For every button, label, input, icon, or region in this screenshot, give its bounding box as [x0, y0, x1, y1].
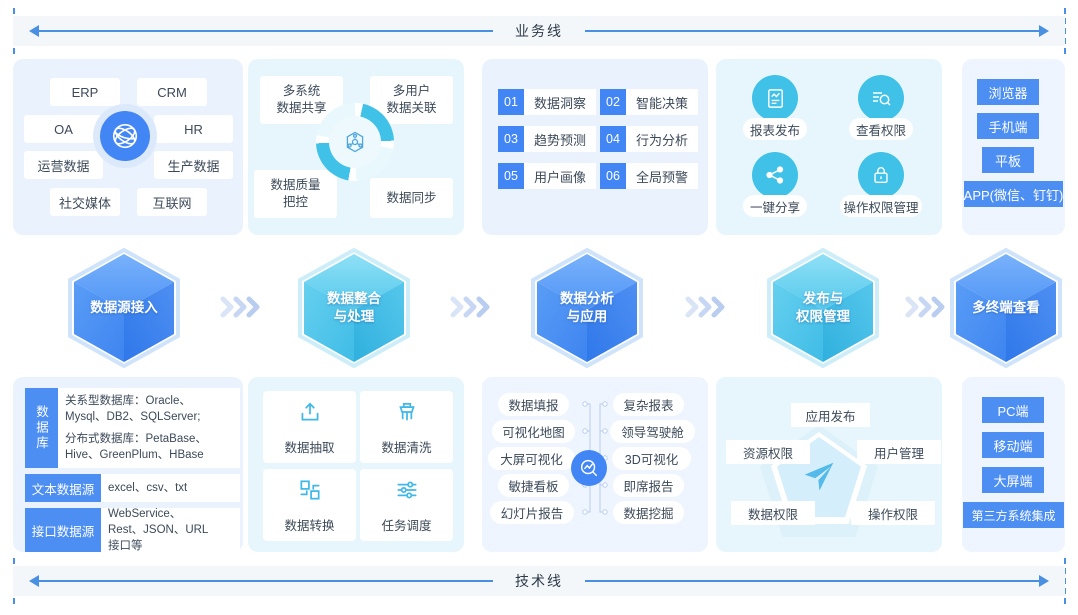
- upload-icon: [297, 399, 323, 430]
- stage-label-line: 多终端查看: [972, 300, 1040, 315]
- stage-label-line: 与应用: [560, 308, 614, 326]
- arrow-right-icon: [1039, 25, 1049, 37]
- label-report-publish[interactable]: 报表发布: [743, 118, 807, 140]
- chip-data-sync[interactable]: 数据同步: [370, 178, 453, 218]
- mindmap-item-big-screen[interactable]: 大屏可视化: [488, 447, 575, 470]
- clean-brush-icon: [394, 399, 420, 430]
- pchip-operation-perm[interactable]: 操作权限: [851, 501, 935, 525]
- analysis-item[interactable]: 01 数据洞察: [498, 89, 596, 115]
- analysis-item-label: 数据洞察: [524, 89, 596, 115]
- panel-data-sources-bottom: 数据库 关系型数据库：Oracle、 Mysql、DB2、SQLServer; …: [13, 377, 243, 552]
- analysis-item-label: 全局预警: [626, 163, 698, 189]
- db-value-line: Mysql、DB2、SQLServer;: [65, 409, 233, 425]
- btn-mobile[interactable]: 手机端: [977, 113, 1039, 139]
- card-label: 数据抽取: [284, 437, 334, 456]
- analytics-search-icon: [571, 450, 607, 486]
- db-value-line: 关系型数据库：Oracle、: [65, 393, 233, 409]
- btn-browser[interactable]: 浏览器: [977, 79, 1039, 105]
- db-value-text-source: excel、csv、txt: [101, 474, 240, 502]
- infographic-canvas: 业务线 ERP CRM OA HR 运营数据 生产数据 社交媒体 互联网 多系统…: [0, 0, 1078, 615]
- chevron-right-icon-4: [900, 292, 952, 322]
- business-line-label: 业务线: [493, 21, 585, 41]
- btn-bigscreen[interactable]: 大屏端: [982, 467, 1044, 493]
- chip-line: 数据质量: [270, 177, 320, 194]
- panel-terminals-bottom: PC端 移动端 大屏端 第三方系统集成: [962, 377, 1065, 552]
- card-label: 数据清洗: [381, 437, 431, 456]
- analysis-item[interactable]: 02 智能决策: [600, 89, 698, 115]
- db-value-line: excel、csv、txt: [108, 480, 233, 496]
- db-value-database: 关系型数据库：Oracle、 Mysql、DB2、SQLServer; 分布式数…: [58, 388, 240, 468]
- stage-hex-2[interactable]: 数据整合 与处理: [296, 248, 412, 368]
- mindmap-item-visual-map[interactable]: 可视化地图: [492, 420, 575, 443]
- analysis-item-num: 04: [600, 126, 626, 152]
- db-key-text-source: 文本数据源: [25, 474, 101, 502]
- stage-hex-5[interactable]: 多终端查看: [948, 248, 1064, 368]
- chip-oa[interactable]: OA: [24, 115, 103, 143]
- card-label: 任务调度: [381, 515, 431, 534]
- btn-mobile-end[interactable]: 移动端: [982, 432, 1044, 458]
- pchip-app-publish[interactable]: 应用发布: [791, 403, 870, 427]
- stage-label-line: 权限管理: [796, 308, 850, 326]
- analysis-item-label: 行为分析: [626, 126, 698, 152]
- arrow-right-icon: [1039, 575, 1049, 587]
- analysis-item-label: 用户画像: [524, 163, 596, 189]
- mindmap-item-exec-dashboard[interactable]: 领导驾驶舱: [610, 420, 695, 443]
- chip-production-data[interactable]: 生产数据: [154, 151, 233, 179]
- chip-line: 多系统: [283, 83, 321, 100]
- stage-hex-4-label: 发布与 权限管理: [765, 248, 881, 368]
- business-line-axis: 业务线: [13, 16, 1065, 46]
- stage-label-line: 发布与: [796, 290, 850, 308]
- db-value-api-source: WebService、 Rest、JSON、URL 接口等: [101, 508, 240, 552]
- mindmap-item-3d-visual[interactable]: 3D可视化: [612, 447, 691, 470]
- report-chart-icon[interactable]: [752, 75, 798, 121]
- pchip-data-perm[interactable]: 数据权限: [731, 501, 815, 525]
- btn-third-party[interactable]: 第三方系统集成: [963, 502, 1064, 528]
- stage-hex-1[interactable]: 数据源接入: [66, 248, 182, 368]
- btn-pc[interactable]: PC端: [982, 397, 1044, 423]
- chip-line: 把控: [283, 194, 308, 211]
- card-data-transform[interactable]: 数据转换: [263, 469, 356, 541]
- chevron-right-icon-2: [445, 292, 497, 322]
- stage-label-line: 数据源接入: [90, 300, 158, 315]
- db-value-line: 分布式数据库：PetaBase、: [65, 431, 233, 447]
- share-icon[interactable]: [752, 152, 798, 198]
- chip-crm[interactable]: CRM: [137, 78, 207, 106]
- mindmap-item-adhoc-report[interactable]: 即席报告: [613, 474, 684, 497]
- btn-tablet[interactable]: 平板: [982, 147, 1034, 173]
- technology-line-label: 技术线: [493, 571, 585, 591]
- label-view-permission[interactable]: 查看权限: [849, 118, 913, 140]
- analysis-item-num: 05: [498, 163, 524, 189]
- pchip-user-mgmt[interactable]: 用户管理: [857, 440, 941, 464]
- panel-etl-bottom: 数据抽取 数据清洗 数据转换: [248, 377, 464, 552]
- card-task-schedule[interactable]: 任务调度: [360, 469, 453, 541]
- mindmap-item-data-entry[interactable]: 数据填报: [498, 393, 569, 416]
- chip-operation-data[interactable]: 运营数据: [24, 151, 103, 179]
- db-value-line: Rest、JSON、URL: [108, 522, 233, 538]
- analysis-item-num: 03: [498, 126, 524, 152]
- db-value-line: Hive、GreenPlum、HBase: [65, 447, 233, 463]
- mindmap-item-agile-dashboard[interactable]: 敏捷看板: [498, 474, 569, 497]
- db-key-api-source: 接口数据源: [25, 508, 101, 552]
- panel-publish-permission-top: 报表发布 查看权限 一键分享 操作权限管理: [716, 59, 942, 235]
- stage-label-line: 数据分析: [560, 290, 614, 308]
- chip-social-media[interactable]: 社交媒体: [50, 188, 120, 216]
- db-row-text-source[interactable]: 文本数据源 excel、csv、txt: [25, 474, 240, 502]
- integration-donut: [316, 103, 394, 181]
- db-row-api-source[interactable]: 接口数据源 WebService、 Rest、JSON、URL 接口等: [25, 508, 240, 552]
- card-data-extract[interactable]: 数据抽取: [263, 391, 356, 463]
- panel-data-analysis-top: 01 数据洞察 02 智能决策 03 趋势预测 04 行为分析 05 用户画像 …: [482, 59, 708, 235]
- panel-terminals-top: 浏览器 手机端 平板 APP(微信、钉钉): [962, 59, 1065, 235]
- card-data-clean[interactable]: 数据清洗: [360, 391, 453, 463]
- chip-erp[interactable]: ERP: [50, 78, 120, 106]
- chip-hr[interactable]: HR: [154, 115, 233, 143]
- mindmap-item-data-mining[interactable]: 数据挖掘: [613, 501, 684, 524]
- db-key-database: 数据库: [25, 388, 58, 468]
- analysis-item[interactable]: 03 趋势预测: [498, 126, 596, 152]
- globe-network-icon: [100, 111, 150, 161]
- stage-hex-3-label: 数据分析 与应用: [529, 248, 645, 368]
- analysis-item[interactable]: 05 用户画像: [498, 163, 596, 189]
- stage-hex-4[interactable]: 发布与 权限管理: [765, 248, 881, 368]
- card-label: 数据转换: [284, 515, 334, 534]
- chevron-right-icon-1: [215, 292, 267, 322]
- stage-hex-1-label: 数据源接入: [66, 248, 182, 368]
- chip-line: 多用户: [393, 83, 431, 100]
- chevron-right-icon-3: [680, 292, 732, 322]
- arrow-left-icon: [29, 25, 39, 37]
- label-one-click-share[interactable]: 一键分享: [743, 195, 807, 217]
- stage-label-line: 与处理: [327, 308, 381, 326]
- mindmap-item-complex-report[interactable]: 复杂报表: [613, 393, 684, 416]
- db-value-line: 接口等: [108, 538, 233, 554]
- lock-icon[interactable]: [858, 152, 904, 198]
- analysis-item-label: 趋势预测: [524, 126, 596, 152]
- label-operation-permission[interactable]: 操作权限管理: [840, 195, 922, 217]
- chip-internet[interactable]: 互联网: [137, 188, 207, 216]
- analysis-item-num: 02: [600, 89, 626, 115]
- hexagon-node-icon: [329, 116, 381, 168]
- technology-line-axis: 技术线: [13, 566, 1065, 596]
- analysis-item-num: 01: [498, 89, 524, 115]
- analysis-item[interactable]: 04 行为分析: [600, 126, 698, 152]
- analysis-item-num: 06: [600, 163, 626, 189]
- pchip-resource-perm[interactable]: 资源权限: [726, 440, 810, 464]
- analysis-item-label: 智能决策: [626, 89, 698, 115]
- stage-hex-2-label: 数据整合 与处理: [296, 248, 412, 368]
- stage-hex-3[interactable]: 数据分析 与应用: [529, 248, 645, 368]
- globe-network-icon-wrap: [93, 104, 157, 168]
- search-list-icon[interactable]: [858, 75, 904, 121]
- analysis-item[interactable]: 06 全局预警: [600, 163, 698, 189]
- db-value-line: WebService、: [108, 506, 233, 522]
- mindmap-item-slide-report[interactable]: 幻灯片报告: [490, 501, 574, 524]
- stage-hex-5-label: 多终端查看: [948, 248, 1064, 368]
- transform-icon: [297, 477, 323, 508]
- sliders-icon: [394, 477, 420, 508]
- db-row-database[interactable]: 数据库 关系型数据库：Oracle、 Mysql、DB2、SQLServer; …: [25, 388, 240, 468]
- stage-label-line: 数据整合: [327, 290, 381, 308]
- btn-app[interactable]: APP(微信、钉钉): [964, 181, 1063, 207]
- chip-line: 数据同步: [386, 190, 436, 207]
- arrow-left-icon: [29, 575, 39, 587]
